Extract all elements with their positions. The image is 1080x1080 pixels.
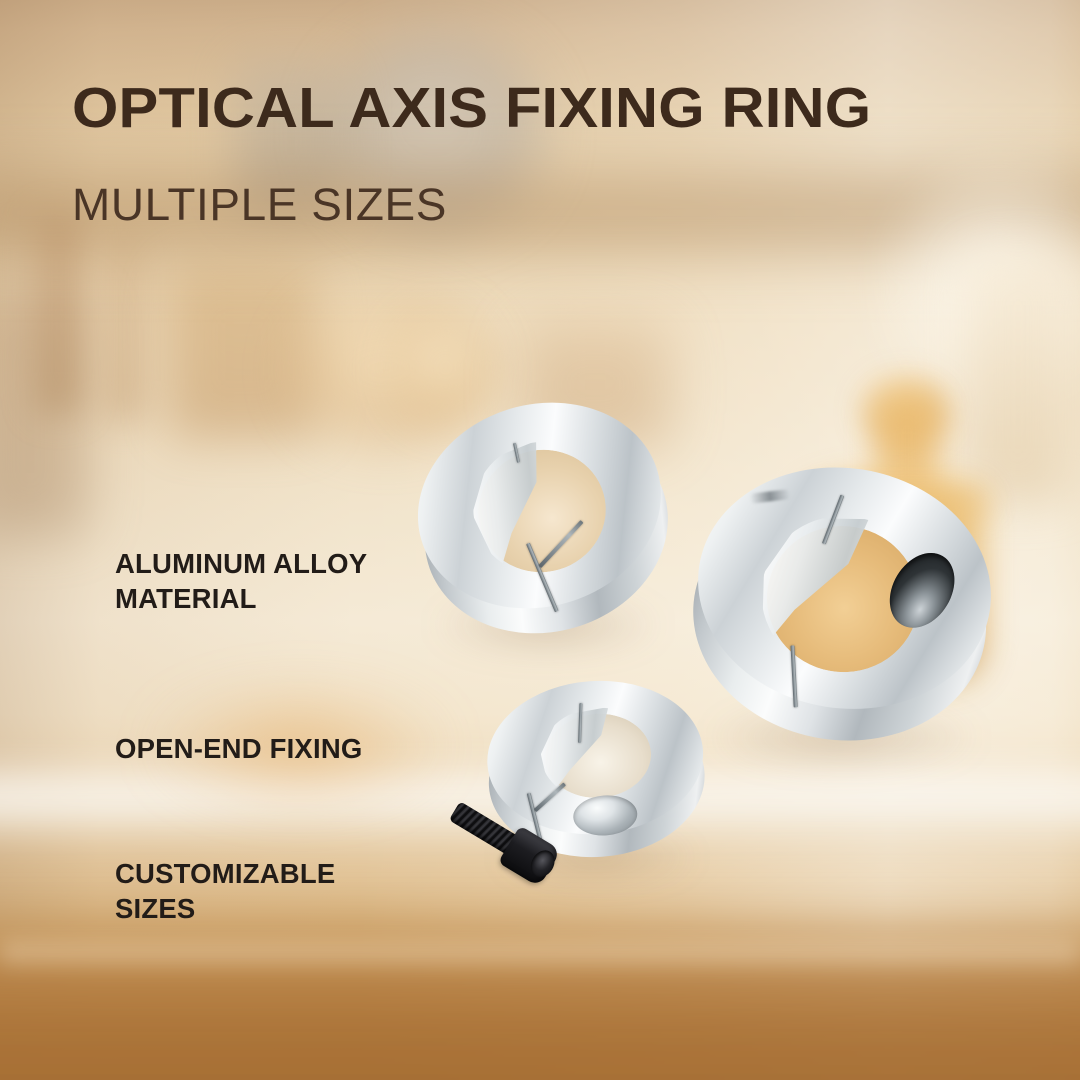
shaft-collar-large: [670, 440, 1015, 768]
feature-label-open-end-fixing: OPEN-END FIXING: [115, 731, 362, 766]
background-board: [168, 266, 318, 438]
background-wood-table: [0, 905, 1080, 1080]
page-subtitle: MULTIPLE SIZES: [72, 182, 447, 227]
background-jar-right: [966, 252, 1070, 502]
background-lamp-glow: [398, 316, 494, 420]
page-title: OPTICAL AXIS FIXING RING: [72, 80, 871, 137]
feature-label-customizable-sizes: CUSTOMIZABLE SIZES: [115, 856, 335, 926]
product-banner: OPTICAL AXIS FIXING RING MULTIPLE SIZES: [0, 0, 1080, 1080]
feature-label-aluminum-alloy-material: ALUMINUM ALLOY MATERIAL: [115, 546, 367, 616]
background-table-sheen: [0, 944, 1080, 970]
